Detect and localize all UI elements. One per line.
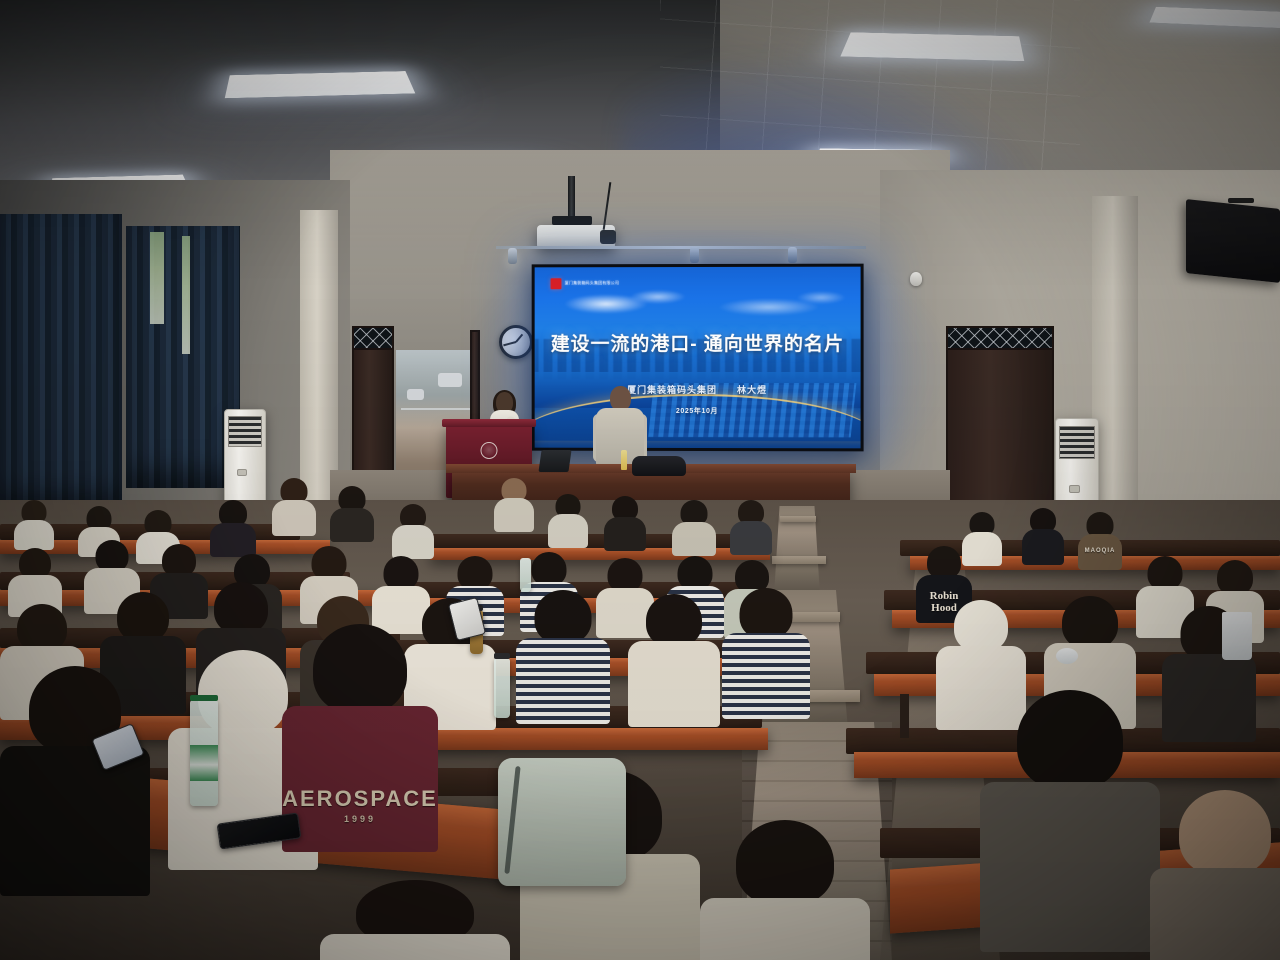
student-torso (320, 934, 510, 960)
student-torso (210, 523, 256, 557)
outdoor-railing (401, 408, 471, 410)
student-head (17, 604, 67, 652)
student-head (458, 556, 493, 590)
student-head (312, 546, 347, 580)
lecture-hall-photo: 厦门集装箱码头集团有限公司 建设一流的港口- 通向世界的名片 厦门集装箱码头集团… (0, 0, 1280, 960)
student-torso-striped (516, 638, 610, 724)
door-transom-lattice (948, 328, 1052, 350)
window-slit (150, 232, 164, 324)
bottle-cap (494, 653, 510, 659)
slide-title: 建设一流的港口- 通向世界的名片 (535, 328, 861, 355)
student-head (608, 558, 643, 592)
student-head (384, 556, 419, 590)
logo-mark-icon (551, 278, 562, 289)
student-head (678, 556, 713, 590)
track-light (788, 247, 797, 263)
presentation-slide: 厦门集装箱码头集团有限公司 建设一流的港口- 通向世界的名片 厦门集装箱码头集团… (535, 267, 861, 449)
student-head (736, 820, 834, 906)
pillar-left (300, 210, 338, 510)
bottle-label (190, 745, 218, 781)
projector-lens (600, 230, 616, 244)
list-item (392, 504, 434, 556)
student-head (535, 590, 592, 644)
university-emblem (481, 442, 498, 459)
aisle-step (772, 556, 826, 564)
list-item (330, 486, 374, 540)
track-light (690, 247, 699, 263)
student-head (646, 594, 702, 647)
drink-cup (1222, 612, 1252, 660)
list-item (980, 690, 1160, 940)
student-torso (604, 517, 646, 551)
list-item (320, 880, 510, 960)
student-torso (700, 898, 870, 960)
list-item (672, 500, 716, 554)
door-transom-lattice (354, 328, 392, 350)
slide-logo-text: 厦门集装箱码头集团有限公司 (565, 280, 619, 286)
speaker-bracket (1228, 198, 1254, 203)
ceiling-light-panel (840, 32, 1024, 61)
ac-vent-grille (228, 416, 262, 447)
student-head (117, 592, 169, 642)
student-torso (548, 514, 588, 548)
podium-top (442, 419, 536, 427)
list-item (628, 594, 720, 720)
student-torso (0, 746, 150, 896)
list-item (272, 478, 316, 534)
student-torso (494, 498, 534, 532)
student-head (1217, 560, 1253, 595)
aisle-step (780, 516, 816, 522)
projector-mount-pole (568, 176, 575, 220)
list-item (494, 478, 534, 530)
student-torso (272, 500, 316, 536)
projection-screen: 厦门集装箱码头集团有限公司 建设一流的港口- 通向世界的名片 厦门集装箱码头集团… (532, 264, 864, 452)
list-item: AEROSPACE 1999 (282, 624, 438, 836)
slide-company-logo: 厦门集装箱码头集团有限公司 (551, 278, 619, 289)
student-torso (1078, 534, 1122, 570)
parked-car (407, 389, 424, 400)
list-item (1150, 790, 1280, 960)
list-item (604, 496, 646, 550)
student-head (1062, 596, 1118, 649)
student-torso (330, 508, 374, 542)
list-item (700, 820, 870, 960)
student-torso-striped (722, 633, 810, 719)
backpack (498, 758, 626, 886)
student-head (214, 582, 268, 634)
ac-vent-grille (1059, 426, 1094, 459)
student-head (954, 600, 1008, 652)
list-item (14, 500, 54, 546)
student-head (1148, 556, 1183, 590)
water-bottle (520, 558, 531, 592)
student-head (532, 552, 567, 586)
student-torso (980, 782, 1160, 952)
wall-speaker (1186, 199, 1280, 283)
bottle-cap (190, 695, 218, 701)
wall-clock (499, 325, 533, 359)
slide-date: 2025年10月 (535, 406, 861, 416)
student-head (313, 624, 407, 714)
student-torso (672, 522, 716, 556)
student-torso (730, 521, 772, 555)
student-torso (392, 525, 434, 559)
water-bottle (494, 658, 510, 718)
student-head (1179, 790, 1271, 876)
ac-badge (237, 469, 247, 476)
slide-subtitle: 厦门集装箱码头集团 林大煜 (535, 383, 861, 396)
ac-badge (1069, 485, 1080, 493)
presenter-bag (632, 456, 686, 476)
track-light-rail (496, 246, 866, 249)
list-item (730, 500, 772, 552)
student-head (740, 588, 793, 639)
list-item (0, 666, 150, 886)
stage-bottle (621, 450, 627, 470)
student-torso (282, 706, 438, 852)
drink-cup (1056, 648, 1078, 664)
parked-car (438, 373, 461, 388)
student-torso (14, 520, 54, 550)
list-item (210, 500, 256, 554)
student-torso (1150, 868, 1280, 960)
security-camera (910, 272, 922, 286)
list-item (548, 494, 588, 546)
air-conditioner-left (224, 409, 266, 513)
student-torso (628, 641, 720, 727)
list-item (516, 590, 610, 718)
laptop (538, 450, 571, 472)
list-item: MAOQIA (1078, 512, 1122, 568)
student-head (1017, 690, 1123, 790)
list-item (1022, 508, 1064, 562)
curtain-left-far (0, 214, 122, 510)
desk-edge (430, 548, 770, 552)
window-slit (182, 236, 190, 354)
backpack-strap (504, 766, 520, 874)
bench-leg (900, 694, 909, 738)
projector-mount-bracket (552, 216, 592, 225)
list-item (722, 588, 810, 714)
student-torso (1162, 654, 1256, 742)
water-bottle (190, 700, 218, 806)
track-light (508, 248, 517, 264)
student-torso (1022, 529, 1064, 565)
